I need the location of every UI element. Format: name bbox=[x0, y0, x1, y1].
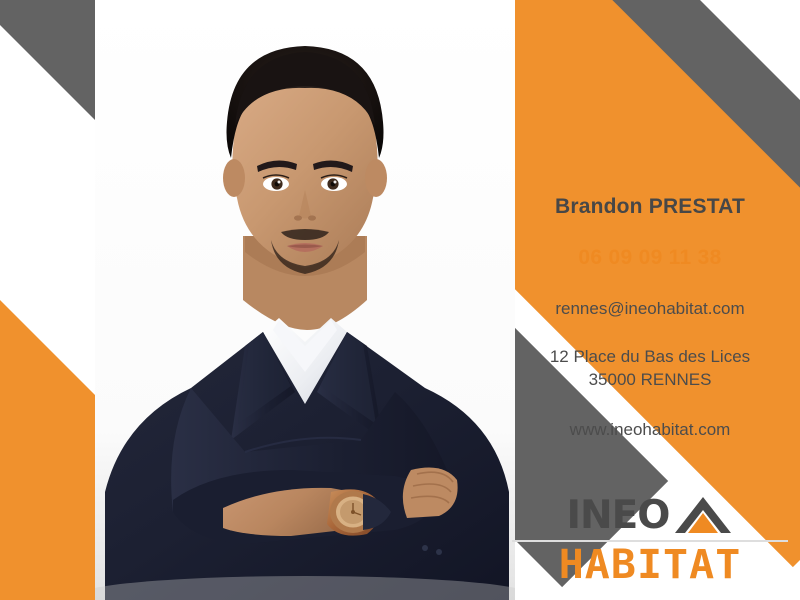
logo-top-row: INEO bbox=[512, 492, 788, 538]
website-url[interactable]: www.ineohabitat.com bbox=[500, 420, 800, 440]
phone-number[interactable]: 06 09 09 11 38 bbox=[500, 246, 800, 270]
email-address[interactable]: rennes@ineohabitat.com bbox=[500, 299, 800, 319]
portrait-photo bbox=[95, 0, 515, 600]
business-card: Brandon PRESTAT 06 09 09 11 38 rennes@in… bbox=[0, 0, 800, 600]
contact-details: Brandon PRESTAT 06 09 09 11 38 rennes@in… bbox=[500, 195, 800, 440]
logo-secondary-text: HABITAT bbox=[506, 543, 793, 588]
house-roof-icon bbox=[673, 491, 733, 540]
address-line-2: 35000 RENNES bbox=[500, 369, 800, 392]
address-line-1: 12 Place du Bas des Lices bbox=[500, 346, 800, 369]
person-name: Brandon PRESTAT bbox=[500, 195, 800, 219]
company-logo: INEO HABITAT bbox=[512, 492, 788, 592]
postal-address: 12 Place du Bas des Lices 35000 RENNES bbox=[500, 346, 800, 392]
logo-primary-text: INEO bbox=[567, 496, 670, 535]
